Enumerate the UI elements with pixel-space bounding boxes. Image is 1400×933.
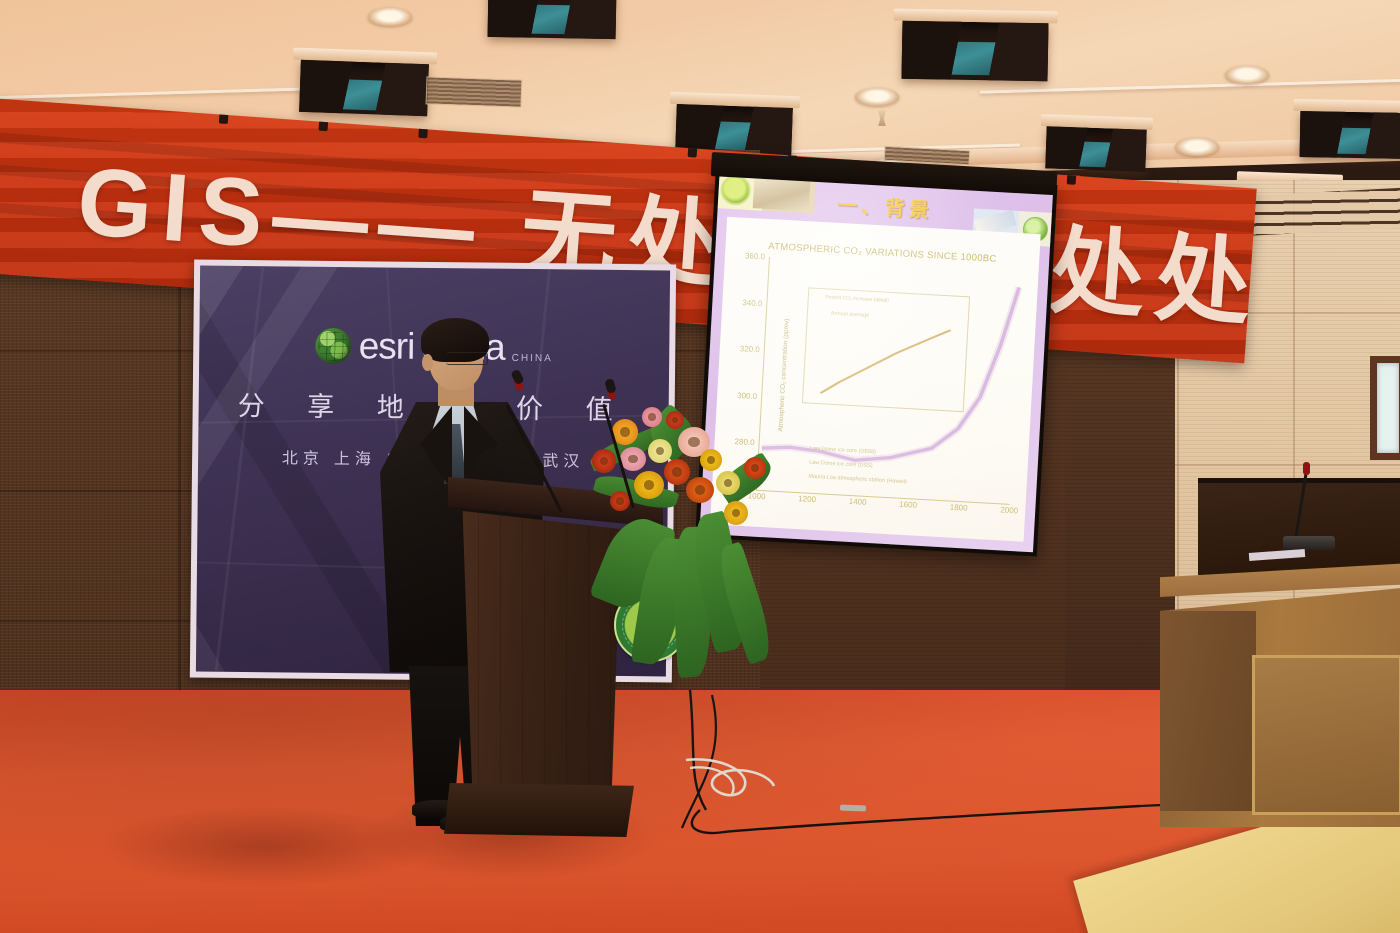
flower-bloom <box>744 457 766 479</box>
chart-inset: Recent CO₂ increase (detail) Annual aver… <box>802 287 970 412</box>
chart-inset-curve <box>817 319 955 404</box>
flower-bloom <box>620 447 646 471</box>
downlight-icon <box>368 8 412 26</box>
microphone-base <box>1283 536 1335 550</box>
x-axis-tick: 2000 <box>1000 506 1018 516</box>
chart-inset-caption: Recent CO₂ increase (detail) <box>825 294 889 304</box>
conference-hall-photo: ▫▫▫ GIS—— 无处不在，处处精彩 <box>0 0 1400 933</box>
flower-bloom <box>686 477 714 503</box>
x-axis-tick: 1600 <box>899 500 917 510</box>
lectern-base <box>444 783 634 837</box>
air-vent <box>426 76 523 107</box>
flower-bloom <box>648 439 672 463</box>
cable-connector <box>840 805 866 812</box>
eyeglasses-icon <box>446 352 488 365</box>
flower-bloom <box>634 471 664 499</box>
flower-bloom <box>592 449 616 473</box>
downlight-icon <box>1175 138 1219 156</box>
x-axis-tick: 1800 <box>950 503 968 513</box>
flower-bloom <box>716 471 740 495</box>
flower-bloom <box>666 411 684 429</box>
x-axis-tick: 1400 <box>849 497 867 507</box>
stage-light-icon <box>1300 111 1400 159</box>
side-table <box>1160 563 1400 823</box>
y-axis-tick: 340.0 <box>742 298 763 308</box>
chart-inset-legend: Annual average <box>831 310 870 318</box>
flower-bloom <box>700 449 722 471</box>
stage-light-icon <box>299 60 429 116</box>
side-table-panel <box>1252 655 1400 815</box>
downlight-icon <box>855 88 899 106</box>
x-axis-tick: 1200 <box>798 494 816 504</box>
flower-bloom <box>724 501 748 525</box>
y-axis-tick: 360.0 <box>745 251 766 261</box>
y-axis-tick: 300.0 <box>737 391 758 401</box>
wall-window <box>1370 356 1400 460</box>
stage-light-icon <box>902 21 1049 82</box>
y-axis-tick: 320.0 <box>740 344 761 354</box>
downlight-icon <box>1225 66 1269 84</box>
chart-plot-area: 360.0 340.0 320.0 300.0 280.0 260.0 Atmo… <box>756 257 1023 505</box>
microphone-head-icon <box>1303 462 1310 475</box>
side-table-side <box>1160 611 1256 811</box>
side-desk-back <box>1198 483 1400 575</box>
flower-bloom <box>642 407 662 427</box>
flower-bloom <box>664 459 690 485</box>
stage-light-icon <box>1045 126 1146 171</box>
stage-light-icon <box>488 0 617 39</box>
globe-icon <box>316 328 352 364</box>
presenter-ear <box>422 354 433 371</box>
